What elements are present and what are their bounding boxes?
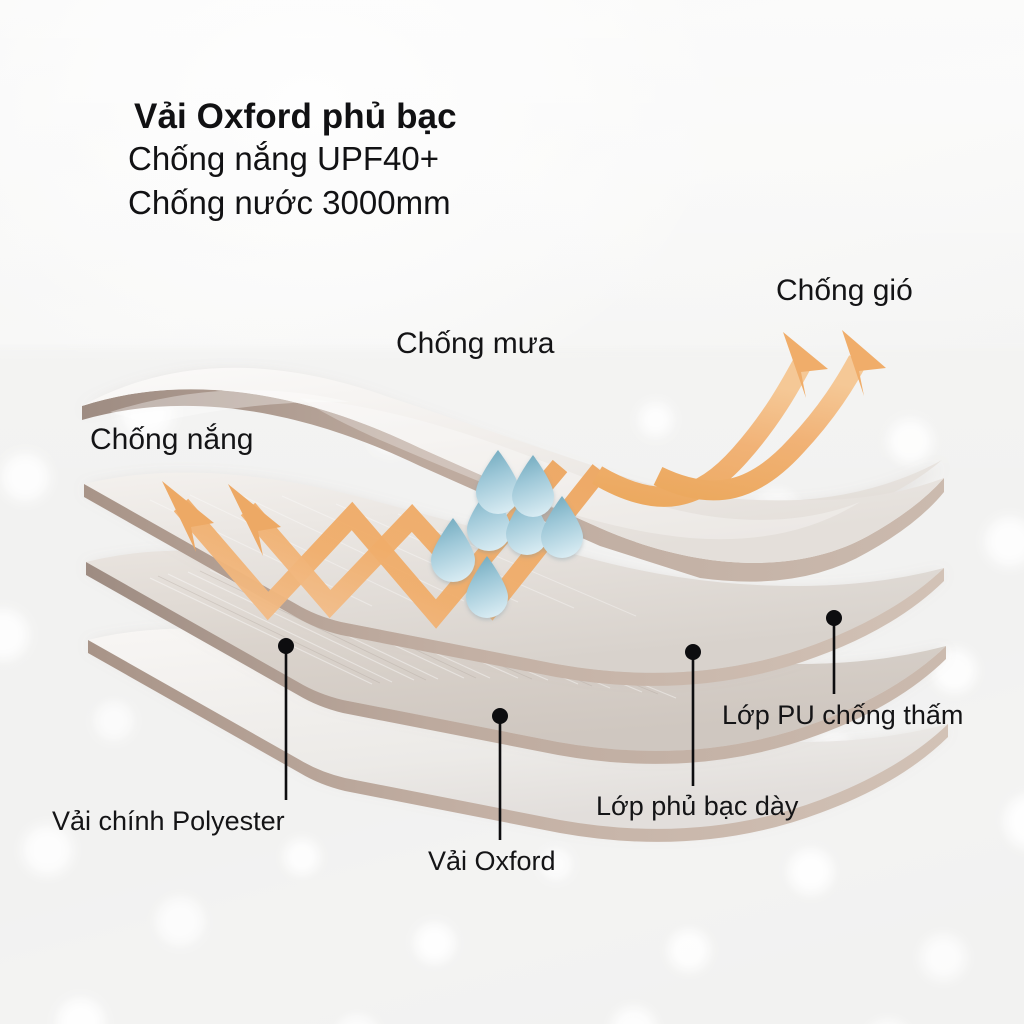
- callout-dot-oxford: [492, 708, 508, 724]
- wind-arrows: [597, 330, 886, 497]
- title-subtitle-upf: Chống nắng UPF40+: [128, 137, 694, 181]
- title-block: Vải Oxford phủ bạc Chống nắng UPF40+ Chố…: [134, 96, 694, 224]
- fabric-layers-infographic: Vải Oxford phủ bạc Chống nắng UPF40+ Chố…: [0, 0, 1024, 1024]
- title-subtitle-waterproof: Chống nước 3000mm: [128, 181, 694, 225]
- feature-label-wind: Chống gió: [776, 274, 913, 308]
- callout-dot-pu: [826, 610, 842, 626]
- layer-label-oxford: Vải Oxford: [428, 846, 556, 877]
- layer-label-pu: Lớp PU chống thấm: [722, 700, 963, 731]
- layer-label-polyester: Vải chính Polyester: [52, 806, 285, 837]
- feature-label-sun: Chống nắng: [90, 423, 253, 457]
- feature-label-rain: Chống mưa: [396, 327, 555, 361]
- callout-dot-silver: [685, 644, 701, 660]
- callout-dot-polyester: [278, 638, 294, 654]
- layer-label-silver: Lớp phủ bạc dày: [596, 791, 798, 822]
- page-title: Vải Oxford phủ bạc: [134, 96, 694, 137]
